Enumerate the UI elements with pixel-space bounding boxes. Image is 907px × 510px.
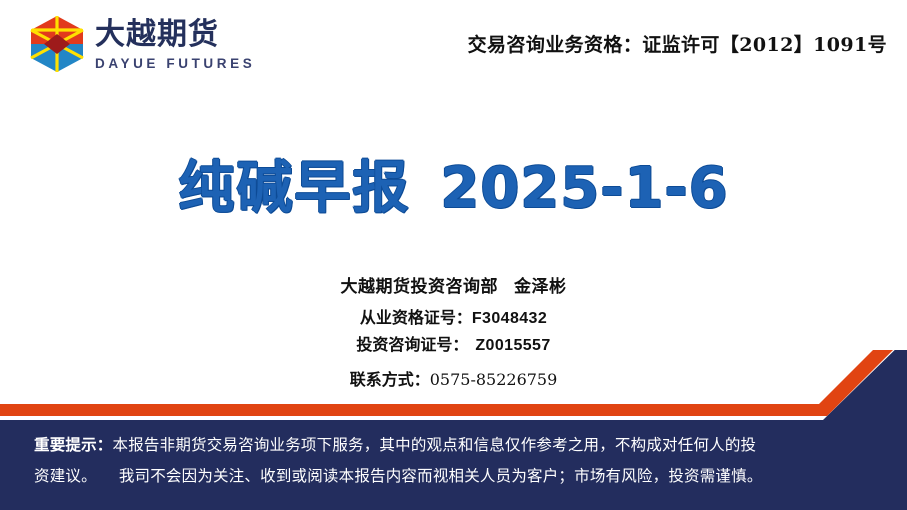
author-name: 金泽彬 [514,277,567,297]
notice-line-1: 重要提示：本报告非期货交易咨询业务项下服务，其中的观点和信息仅作参考之用，不构成… [34,430,879,461]
qualification-statement: 交易咨询业务资格：证监许可【2012】1091号 [468,30,887,57]
important-notice: 重要提示：本报告非期货交易咨询业务项下服务，其中的观点和信息仅作参考之用，不构成… [34,430,879,492]
notice-line-2: 资建议。我司不会因为关注、收到或阅读本报告内容而视相关人员为客户；市场有风险，投… [34,461,879,492]
notice-body-1: 本报告非期货交易咨询业务项下服务，其中的观点和信息仅作参考之用，不构成对任何人的… [113,436,757,454]
dayue-hexagon-logo-icon [28,14,86,74]
page-title-text: 纯碱早报 [178,156,410,221]
author-department: 大越期货投资咨询部 [341,277,499,297]
practice-certificate-label: 从业资格证号： [360,308,472,327]
page-title: 纯碱早报2025-1-6 [0,143,907,224]
logo-chinese-name: 大越期货 [95,20,255,50]
footer-orange-stripe [0,350,907,416]
notice-body-2a: 资建议。 [34,467,97,485]
slide-root: 大越期货 DAYUE FUTURES 交易咨询业务资格：证监许可【2012】10… [0,0,907,510]
company-logo: 大越期货 DAYUE FUTURES [28,14,255,74]
notice-body-2b: 我司不会因为关注、收到或阅读本报告内容而视相关人员为客户；市场有风险，投资需谨慎… [119,467,763,485]
page-title-date: 2025-1-6 [440,156,728,221]
logo-wordmark: 大越期货 DAYUE FUTURES [95,18,255,71]
notice-label: 重要提示： [34,436,113,454]
logo-english-name: DAYUE FUTURES [95,57,255,71]
practice-certificate-value: F3048432 [472,310,547,327]
practice-certificate-line: 从业资格证号：F3048432 [0,304,907,328]
author-department-line: 大越期货投资咨询部金泽彬 [0,272,907,297]
